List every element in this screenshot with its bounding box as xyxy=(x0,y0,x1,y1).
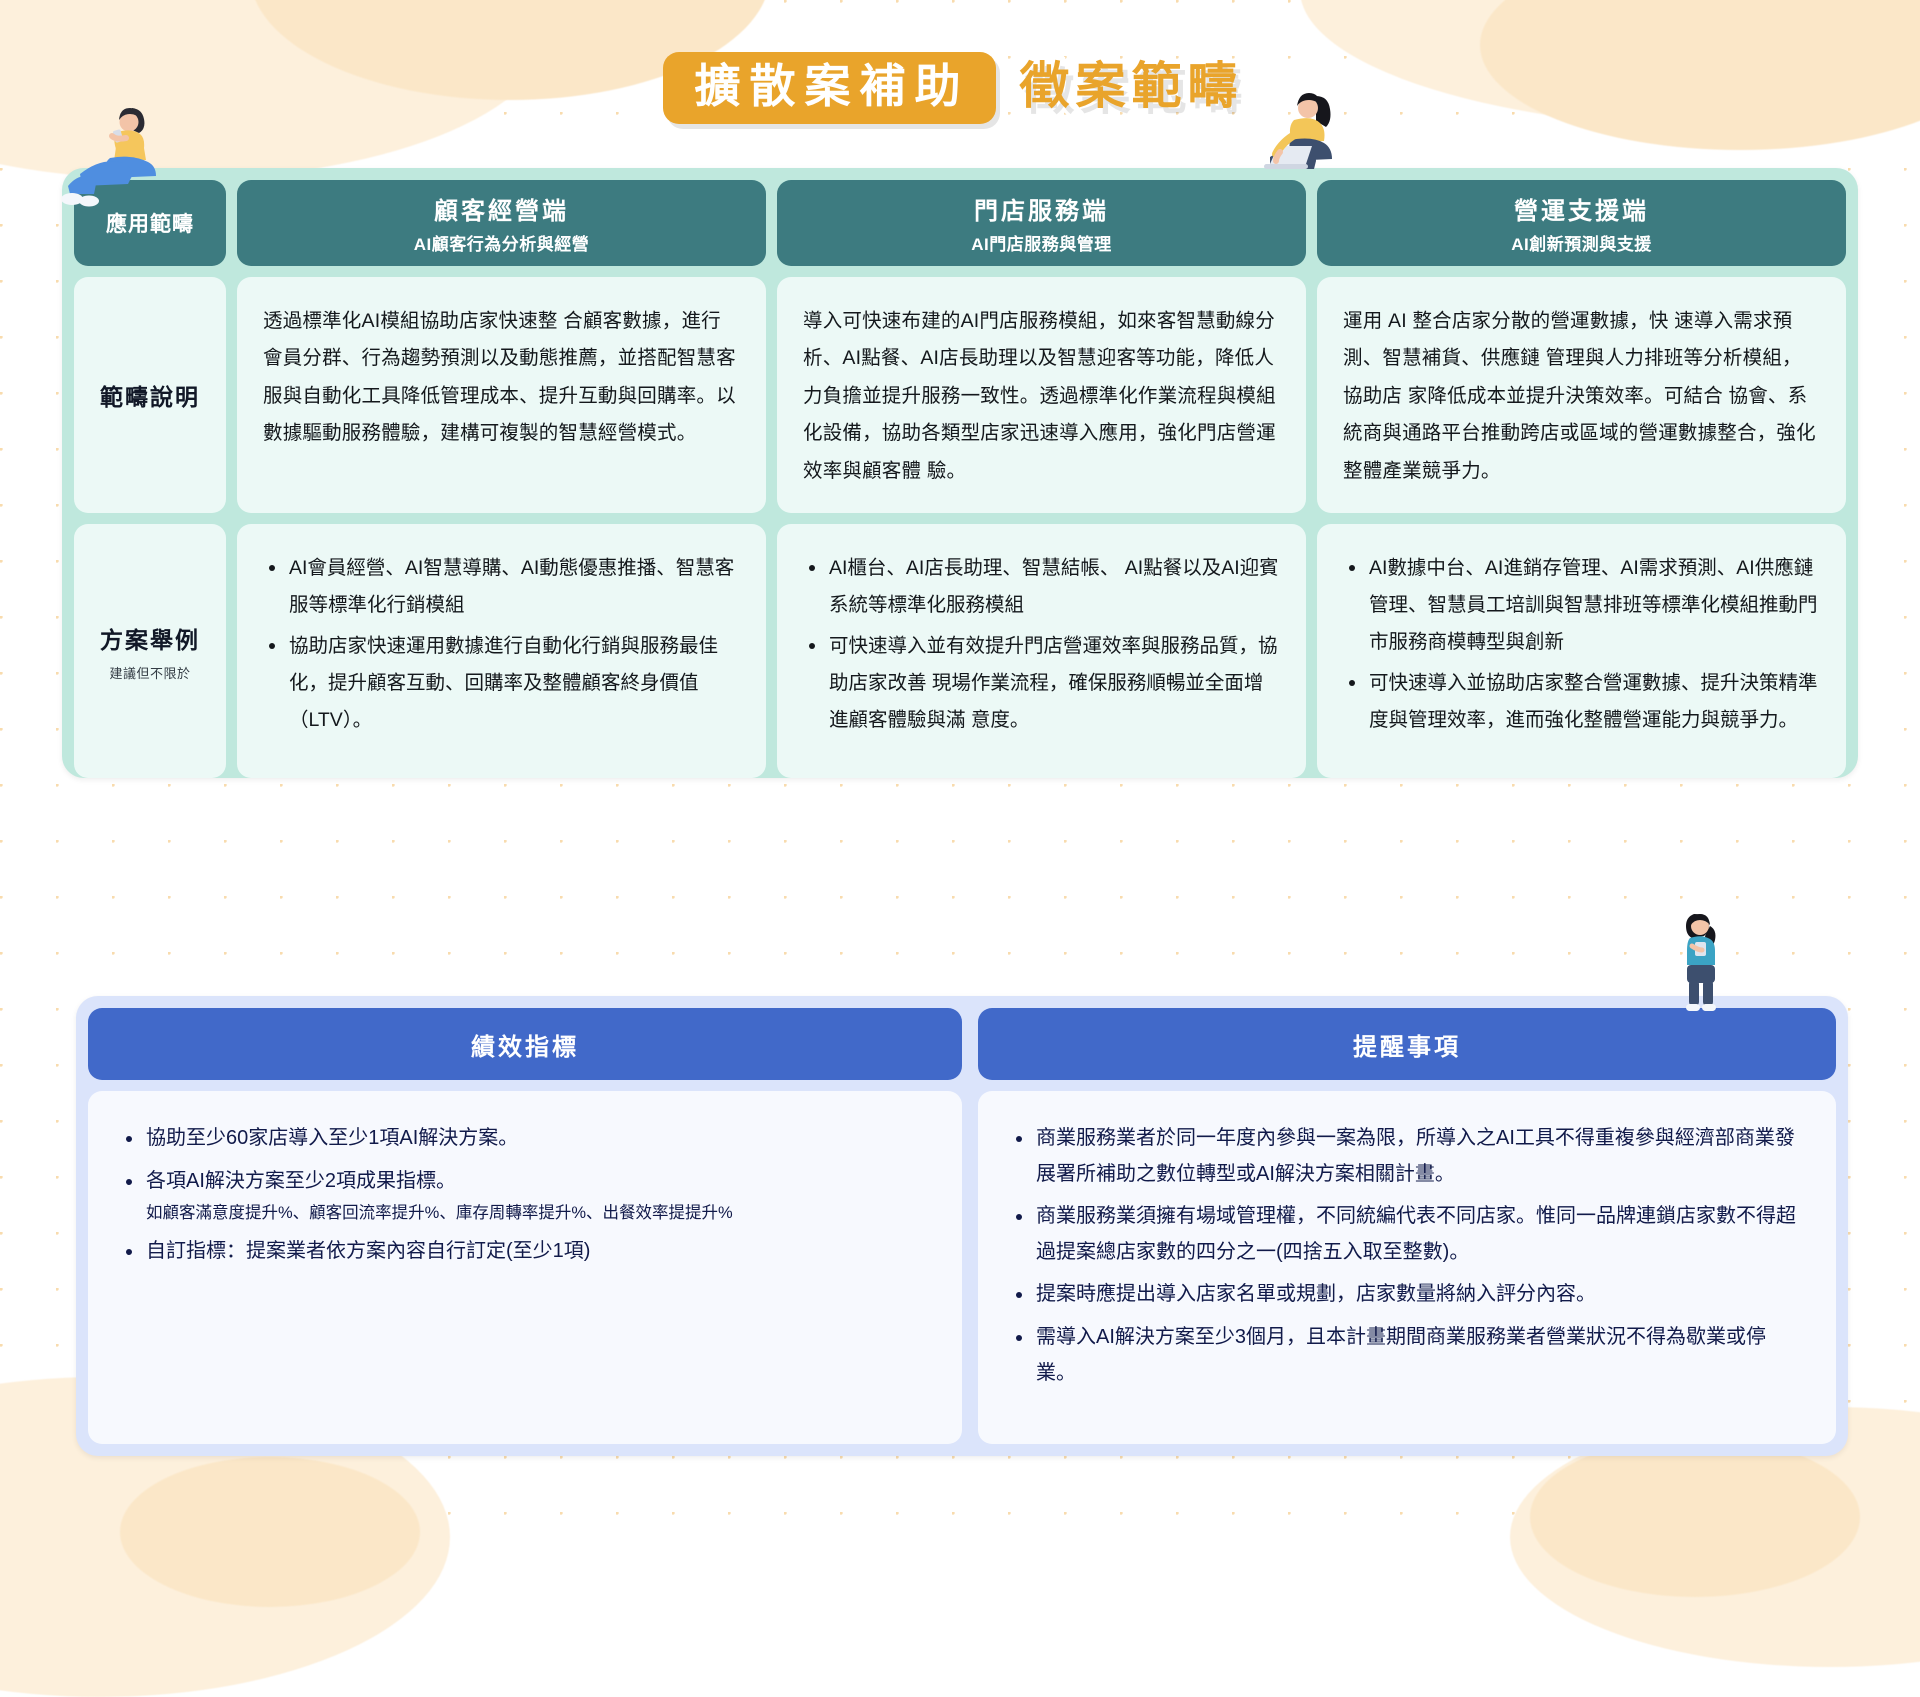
list-item: 商業服務業者於同一年度內參與一案為限，所導入之AI工具不得重複參與經濟部商業發展… xyxy=(1008,1121,1806,1192)
table-cell-examples-store: AI櫃台、AI店長助理、智慧結帳、 AI點餐以及AI迎賓系統等標準化服務模組 可… xyxy=(777,524,1306,778)
list-item: 需導入AI解決方案至少3個月，且本計畫期間商業服務業者營業狀況不得為歇業或停業。 xyxy=(1008,1320,1806,1391)
reminder-list: 商業服務業者於同一年度內參與一案為限，所導入之AI工具不得重複參與經濟部商業發展… xyxy=(1008,1121,1806,1391)
column-header-sub: AI顧客行為分析與經營 xyxy=(414,230,590,255)
table-cell-examples-customer: AI會員經營、AI智慧導購、AI動態優惠推播、智慧客服等標準化行銷模組 協助店家… xyxy=(237,524,766,778)
indicator-list: 協助至少60家店導入至少1項AI解決方案。 各項AI解決方案至少2項成果指標。 … xyxy=(118,1121,932,1269)
list-item-text: 協助至少60家店導入至少1項AI解決方案。 xyxy=(146,1127,518,1149)
table-cell-examples-operations: AI數據中台、AI進銷存管理、AI需求預測、AI供應鏈管理、智慧員工培訓與智慧排… xyxy=(1317,524,1846,778)
row-label-text: 應用範疇 xyxy=(106,208,194,238)
table-cell-description-operations: 運用 AI 整合店家分散的營運數據，快 速導入需求預測、智慧補貨、供應鏈 管理與… xyxy=(1317,277,1846,513)
panel-reminders: 提醒事項 商業服務業者於同一年度內參與一案為限，所導入之AI工具不得重複參與經濟… xyxy=(978,1008,1836,1444)
table-cell-description-customer: 透過標準化AI模組協助店家快速整 合顧客數據，進行會員分群、行為趨勢預測以及動態… xyxy=(237,277,766,513)
list-item: 可快速導入並協助店家整合營運數據、提升決策精準度與管理效率，進而強化整體營運能力… xyxy=(1343,665,1820,739)
table-row: 範疇說明 透過標準化AI模組協助店家快速整 合顧客數據，進行會員分群、行為趨勢預… xyxy=(74,277,1846,513)
panel-header: 提醒事項 xyxy=(978,1008,1836,1080)
cell-text: 導入可快速布建的AI門店服務模組，如來客智慧動線分析、AI點餐、AI店長助理以及… xyxy=(803,303,1280,490)
list-item: 商業服務業須擁有場域管理權，不同統編代表不同店家。惟同一品牌連鎖店家數不得超過提… xyxy=(1008,1199,1806,1270)
column-header-main: 營運支援端 xyxy=(1514,191,1649,226)
list-item-note: 如顧客滿意度提升%、顧客回流率提升%、庫存周轉率提升%、出餐效率提提升% xyxy=(146,1200,932,1226)
examples-list: AI櫃台、AI店長助理、智慧結帳、 AI點餐以及AI迎賓系統等標準化服務模組 可… xyxy=(803,550,1280,739)
list-item-text: 需導入AI解決方案至少3個月，且本計畫期間商業服務業者營業狀況不得為歇業或停業。 xyxy=(1036,1326,1766,1384)
list-item-text: 可快速導入並有效提升門店營運效率與服務品質，協助店家改善 現場作業流程，確保服務… xyxy=(829,635,1278,731)
row-label-text: 方案舉例 xyxy=(100,621,200,655)
row-label-text: 範疇說明 xyxy=(100,378,200,412)
bg-blob xyxy=(1530,1437,1860,1597)
row-label-solution-examples: 方案舉例 建議但不限於 xyxy=(74,524,226,778)
bg-blob xyxy=(120,1457,420,1607)
panel-body: 協助至少60家店導入至少1項AI解決方案。 各項AI解決方案至少2項成果指標。 … xyxy=(88,1091,962,1444)
list-item-text: 協助店家快速運用數據進行自動化行銷與服務最佳化，提升顧客互動、回購率及整體顧客終… xyxy=(289,635,718,731)
table-cell-description-store: 導入可快速布建的AI門店服務模組，如來客智慧動線分析、AI點餐、AI店長助理以及… xyxy=(777,277,1306,513)
column-header-main: 顧客經營端 xyxy=(434,191,569,226)
column-header-main: 門店服務端 xyxy=(974,191,1109,226)
column-header-sub: AI門店服務與管理 xyxy=(971,230,1112,255)
list-item: 自訂指標：提案業者依方案內容自行訂定(至少1項) xyxy=(118,1234,932,1270)
person-figure xyxy=(1686,914,1716,1011)
list-item-text: 各項AI解決方案至少2項成果指標。 xyxy=(146,1170,456,1192)
title-outline-label: 徵案範疇 xyxy=(1002,56,1258,121)
column-header-customer: 顧客經營端 AI顧客行為分析與經營 xyxy=(237,180,766,266)
list-item-text: AI數據中台、AI進銷存管理、AI需求預測、AI供應鏈管理、智慧員工培訓與智慧排… xyxy=(1369,557,1818,653)
standing-woman-with-tablet-illustration xyxy=(1670,910,1740,1015)
list-item: 各項AI解決方案至少2項成果指標。 如顧客滿意度提升%、顧客回流率提升%、庫存周… xyxy=(118,1164,932,1227)
list-item: 提案時應提出導入店家名單或規劃，店家數量將納入評分內容。 xyxy=(1008,1277,1806,1313)
table-row: 方案舉例 建議但不限於 AI會員經營、AI智慧導購、AI動態優惠推播、智慧客服等… xyxy=(74,524,1846,778)
examples-list: AI會員經營、AI智慧導購、AI動態優惠推播、智慧客服等標準化行銷模組 協助店家… xyxy=(263,550,740,739)
list-item-text: 可快速導入並協助店家整合營運數據、提升決策精準度與管理效率，進而強化整體營運能力… xyxy=(1369,672,1818,731)
page-title: 擴散案補助 徵案範疇 xyxy=(0,52,1920,124)
list-item-text: AI會員經營、AI智慧導購、AI動態優惠推播、智慧客服等標準化行銷模組 xyxy=(289,557,734,616)
list-item-text: AI櫃台、AI店長助理、智慧結帳、 AI點餐以及AI迎賓系統等標準化服務模組 xyxy=(829,557,1279,616)
list-item: AI會員經營、AI智慧導購、AI動態優惠推播、智慧客服等標準化行銷模組 xyxy=(263,550,740,624)
list-item-text: 商業服務業須擁有場域管理權，不同統編代表不同店家。惟同一品牌連鎖店家數不得超過提… xyxy=(1036,1205,1796,1263)
row-label-scope-description: 範疇說明 xyxy=(74,277,226,513)
list-item-text: 商業服務業者於同一年度內參與一案為限，所導入之AI工具不得重複參與經濟部商業發展… xyxy=(1036,1127,1795,1185)
table-header-row: 應用範疇 顧客經營端 AI顧客行為分析與經營 門店服務端 AI門店服務與管理 營… xyxy=(74,180,1846,266)
row-label-sublabel: 建議但不限於 xyxy=(109,663,190,682)
list-item: 協助至少60家店導入至少1項AI解決方案。 xyxy=(118,1121,932,1157)
bottom-panels: 績效指標 協助至少60家店導入至少1項AI解決方案。 各項AI解決方案至少2項成… xyxy=(76,996,1848,1456)
panel-body: 商業服務業者於同一年度內參與一案為限，所導入之AI工具不得重複參與經濟部商業發展… xyxy=(978,1091,1836,1444)
column-header-operations: 營運支援端 AI創新預測與支援 xyxy=(1317,180,1846,266)
panel-header: 績效指標 xyxy=(88,1008,962,1080)
list-item-text: 自訂指標：提案業者依方案內容自行訂定(至少1項) xyxy=(146,1240,590,1262)
scope-table: 應用範疇 顧客經營端 AI顧客行為分析與經營 門店服務端 AI門店服務與管理 營… xyxy=(62,168,1858,778)
title-pill-label: 擴散案補助 xyxy=(663,52,996,124)
examples-list: AI數據中台、AI進銷存管理、AI需求預測、AI供應鏈管理、智慧員工培訓與智慧排… xyxy=(1343,550,1820,739)
column-header-sub: AI創新預測與支援 xyxy=(1511,230,1652,255)
cell-text: 運用 AI 整合店家分散的營運數據，快 速導入需求預測、智慧補貨、供應鏈 管理與… xyxy=(1343,303,1820,490)
cell-text: 透過標準化AI模組協助店家快速整 合顧客數據，進行會員分群、行為趨勢預測以及動態… xyxy=(263,303,740,453)
column-header-store: 門店服務端 AI門店服務與管理 xyxy=(777,180,1306,266)
list-item: AI櫃台、AI店長助理、智慧結帳、 AI點餐以及AI迎賓系統等標準化服務模組 xyxy=(803,550,1280,624)
list-item: 可快速導入並有效提升門店營運效率與服務品質，協助店家改善 現場作業流程，確保服務… xyxy=(803,628,1280,739)
list-item: 協助店家快速運用數據進行自動化行銷與服務最佳化，提升顧客互動、回購率及整體顧客終… xyxy=(263,628,740,739)
list-item: AI數據中台、AI進銷存管理、AI需求預測、AI供應鏈管理、智慧員工培訓與智慧排… xyxy=(1343,550,1820,661)
panel-performance-indicators: 績效指標 協助至少60家店導入至少1項AI解決方案。 各項AI解決方案至少2項成… xyxy=(88,1008,962,1444)
list-item-text: 提案時應提出導入店家名單或規劃，店家數量將納入評分內容。 xyxy=(1036,1283,1596,1305)
